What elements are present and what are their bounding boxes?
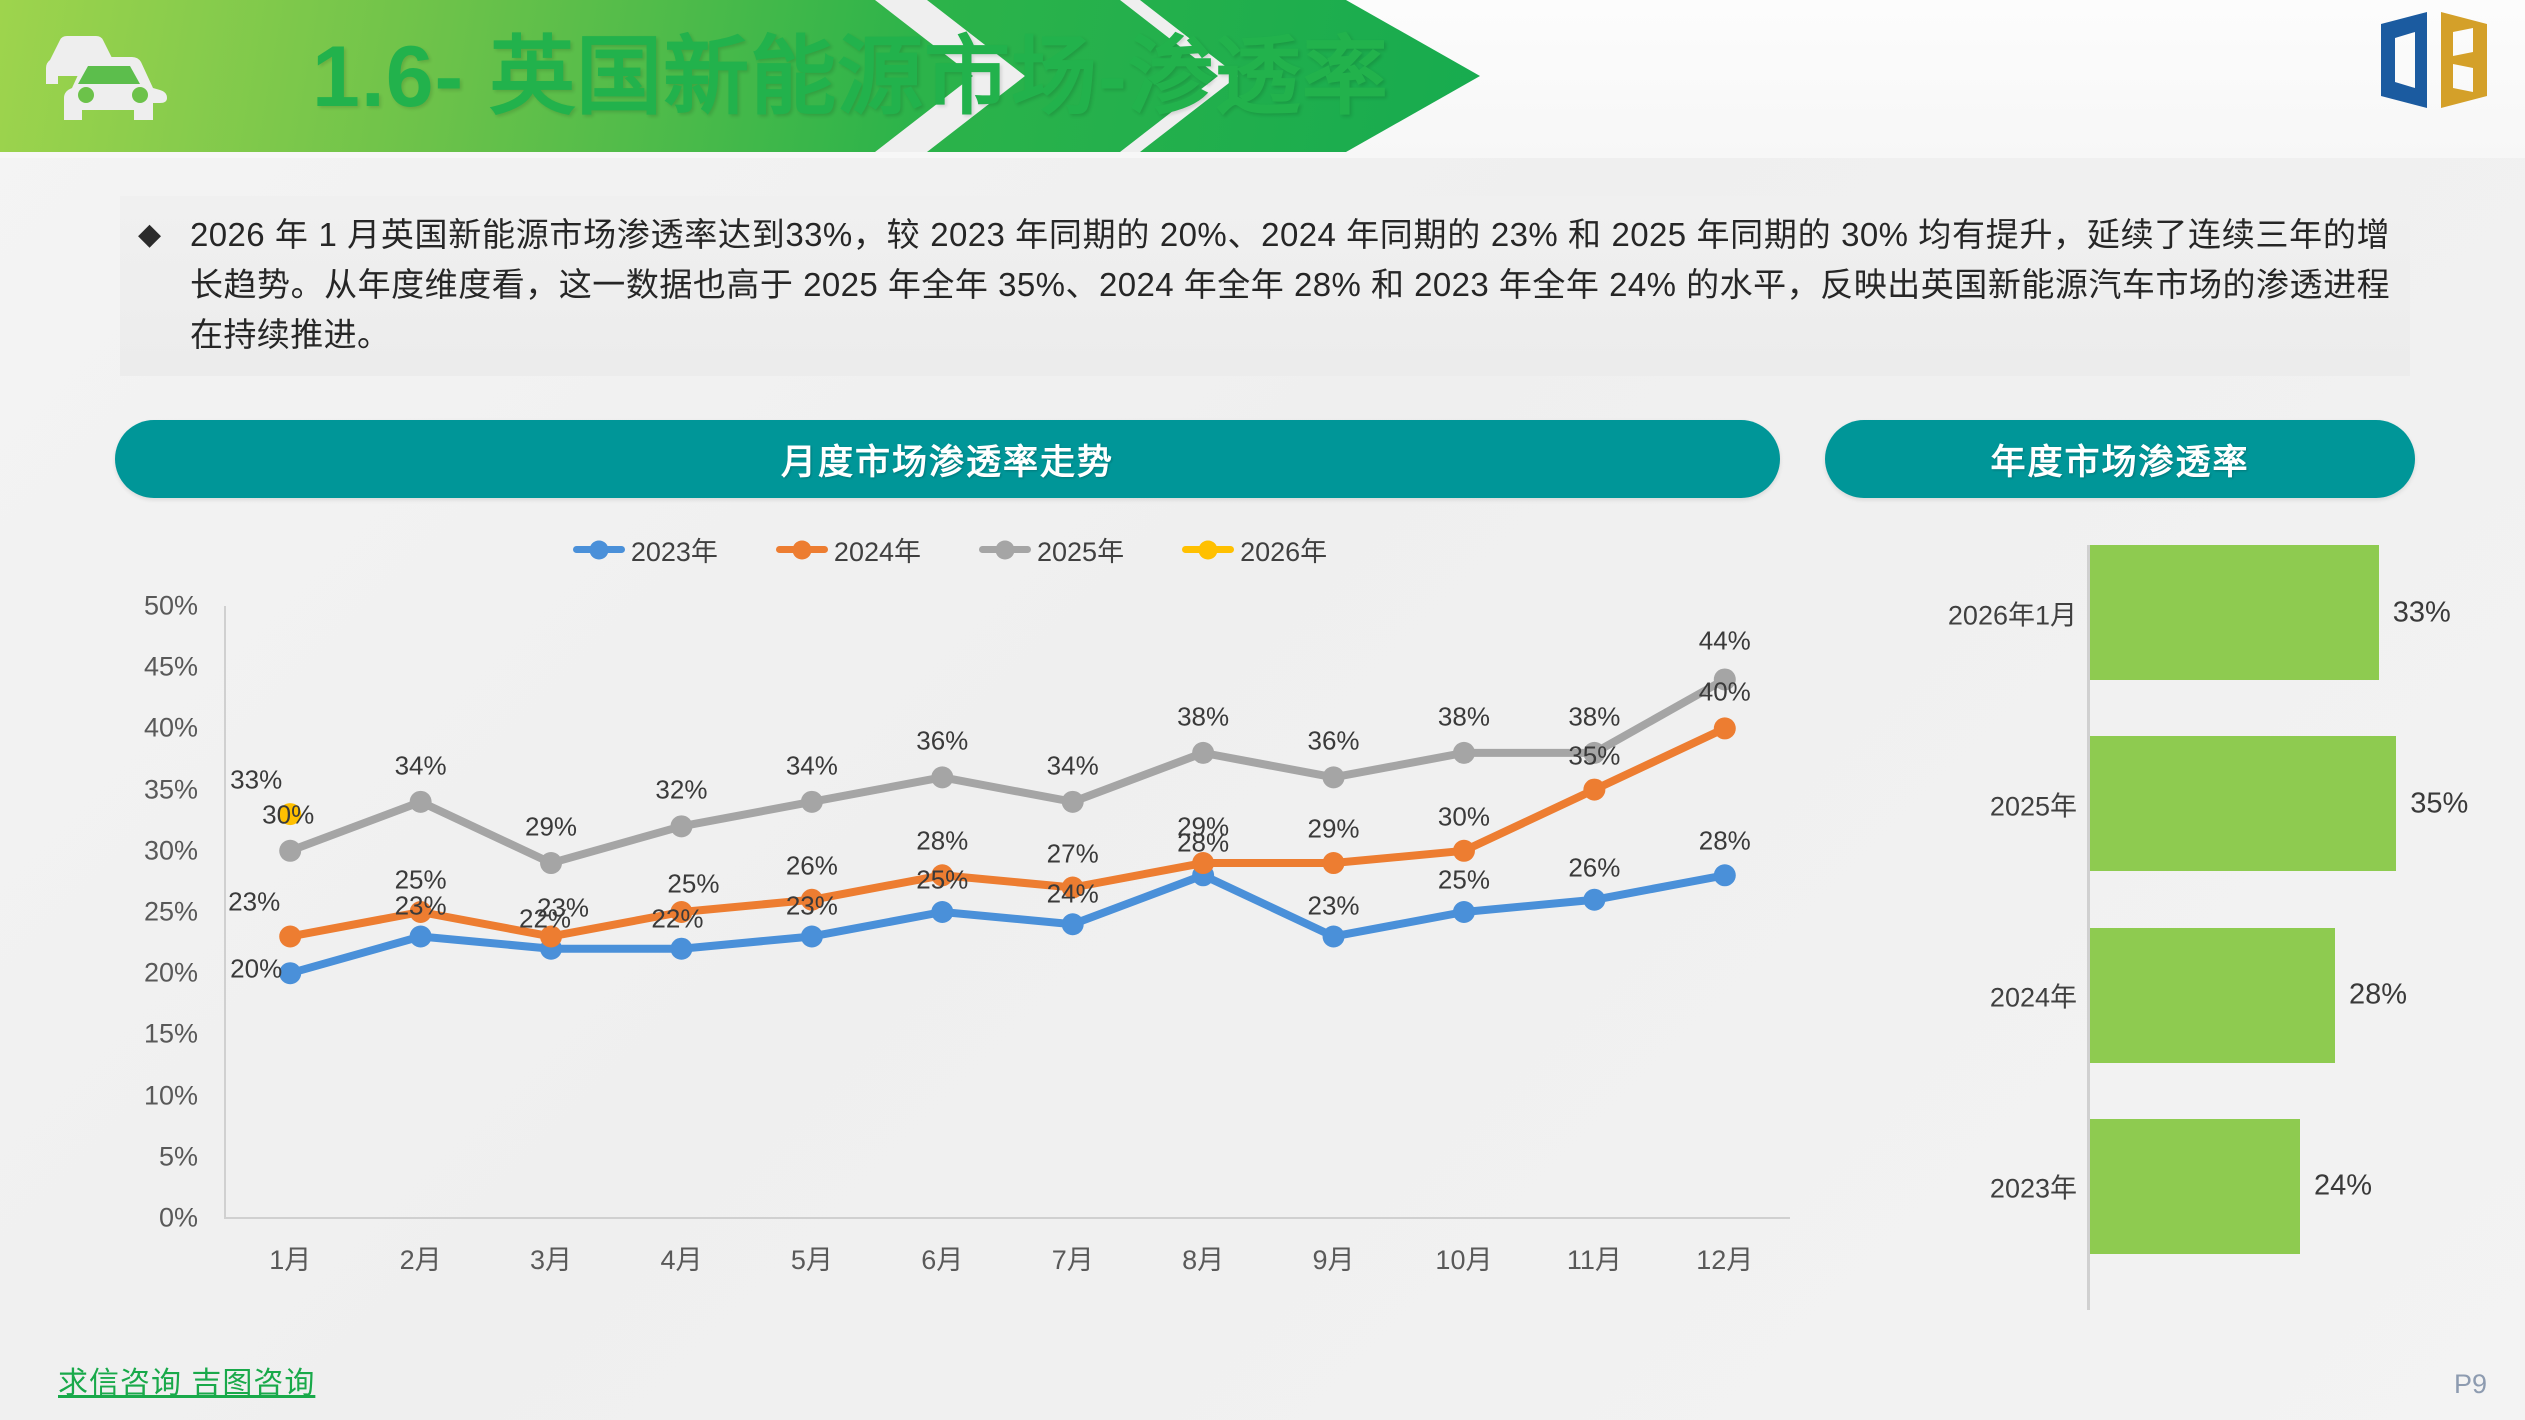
y-axis-tick: 50% (100, 591, 198, 622)
y-axis-tick: 0% (100, 1203, 198, 1234)
data-label: 29% (1177, 812, 1229, 843)
bar-category-label: 2023年 (1855, 1167, 2077, 1206)
legend-swatch (1182, 546, 1234, 553)
y-axis-tick: 25% (100, 897, 198, 928)
bar-category-label: 2025年 (1855, 784, 2077, 823)
data-label: 28% (916, 826, 968, 857)
bar-row: 2026年1月33% (1855, 545, 2475, 680)
data-label: 26% (786, 850, 838, 881)
data-label: 33% (230, 765, 282, 796)
data-point[interactable] (801, 791, 823, 813)
legend-item-2023年[interactable]: 2023年 (573, 530, 718, 569)
bar-row: 2024年28% (1855, 928, 2475, 1063)
bar-value-label: 33% (2393, 596, 2451, 629)
legend-label: 2023年 (631, 530, 718, 569)
data-label: 22% (651, 903, 703, 934)
data-point[interactable] (279, 962, 301, 984)
x-axis-tick: 2月 (400, 1238, 442, 1277)
data-label: 25% (667, 869, 719, 900)
bar-value-label: 28% (2349, 979, 2407, 1012)
bullet-icon: ◆ (138, 220, 161, 250)
data-point[interactable] (540, 852, 562, 874)
summary-text: 2026 年 1 月英国新能源市场渗透率达到33%，较 2023 年同期的 20… (190, 210, 2390, 360)
page-number: P9 (2454, 1369, 2487, 1400)
bar-row: 2025年35% (1855, 736, 2475, 871)
data-label: 40% (1699, 677, 1751, 708)
bar[interactable] (2090, 928, 2335, 1063)
y-axis-tick: 30% (100, 835, 198, 866)
data-point[interactable] (1714, 864, 1736, 886)
data-point[interactable] (1453, 840, 1475, 862)
page-title: 1.6- 英国新能源市场-渗透率 (312, 6, 1389, 131)
data-label: 23% (395, 891, 447, 922)
slide-root: 1.6- 英国新能源市场-渗透率 ◆ 2026 年 1 月英国新能源市场渗透率达… (0, 0, 2525, 1420)
legend-label: 2024年 (834, 530, 921, 569)
section-title-annual: 年度市场渗透率 (1825, 420, 2415, 498)
y-axis-tick: 40% (100, 713, 198, 744)
data-label: 30% (262, 799, 314, 830)
data-label: 35% (1568, 740, 1620, 771)
bar-value-label: 24% (2314, 1170, 2372, 1203)
db-logo (2369, 6, 2501, 114)
bar-row: 2023年24% (1855, 1119, 2475, 1254)
y-axis-tick: 5% (100, 1141, 198, 1172)
y-axis-tick: 45% (100, 652, 198, 683)
data-label: 32% (655, 775, 707, 806)
x-axis-tick: 5月 (791, 1238, 833, 1277)
y-axis-tick: 15% (100, 1019, 198, 1050)
data-point[interactable] (1323, 925, 1345, 947)
legend-swatch (776, 546, 828, 553)
summary-panel: ◆ 2026 年 1 月英国新能源市场渗透率达到33%，较 2023 年同期的 … (120, 196, 2410, 376)
data-label: 44% (1699, 626, 1751, 657)
data-point[interactable] (1323, 766, 1345, 788)
bar-category-label: 2024年 (1855, 976, 2077, 1015)
y-axis-tick: 20% (100, 958, 198, 989)
data-point[interactable] (1714, 717, 1736, 739)
data-label: 23% (786, 891, 838, 922)
data-point[interactable] (1453, 742, 1475, 764)
x-axis-tick: 10月 (1435, 1238, 1492, 1277)
data-label: 36% (916, 726, 968, 757)
data-label: 20% (230, 954, 282, 985)
data-label: 23% (1308, 891, 1360, 922)
data-label: 23% (537, 893, 589, 924)
line-chart-plot: 0%5%10%15%20%25%30%35%40%45%50%1月2月3月4月5… (100, 582, 1800, 1310)
x-axis-tick: 11月 (1567, 1238, 1622, 1277)
data-label: 23% (228, 887, 280, 918)
series-line-2025年 (290, 679, 1725, 863)
data-point[interactable] (1453, 901, 1475, 923)
data-point[interactable] (1583, 889, 1605, 911)
x-axis-tick: 12月 (1696, 1238, 1753, 1277)
bar[interactable] (2090, 1119, 2300, 1254)
x-axis-tick: 1月 (269, 1238, 311, 1277)
data-label: 26% (1568, 852, 1620, 883)
data-point[interactable] (931, 901, 953, 923)
data-label: 29% (525, 812, 577, 843)
data-label: 28% (1699, 826, 1751, 857)
two-cars-icon (38, 26, 198, 130)
data-label: 24% (1047, 879, 1099, 910)
data-point[interactable] (1192, 742, 1214, 764)
data-point[interactable] (279, 840, 301, 862)
data-point[interactable] (1583, 779, 1605, 801)
data-label: 29% (1308, 814, 1360, 845)
bar-value-label: 35% (2410, 787, 2468, 820)
data-label: 30% (1438, 801, 1490, 832)
section-title-monthly: 月度市场渗透率走势 (115, 420, 1780, 498)
data-label: 25% (395, 865, 447, 896)
x-axis-tick: 9月 (1313, 1238, 1355, 1277)
data-point[interactable] (1323, 852, 1345, 874)
footer-links[interactable]: 求信咨询 吉图咨询 (58, 1358, 315, 1402)
data-label: 25% (1438, 865, 1490, 896)
data-point[interactable] (670, 815, 692, 837)
data-label: 38% (1568, 701, 1620, 732)
data-point[interactable] (1062, 913, 1084, 935)
data-point[interactable] (801, 925, 823, 947)
monthly-penetration-line-chart: 2023年2024年2025年2026年 0%5%10%15%20%25%30%… (100, 520, 1800, 1310)
data-label: 27% (1047, 838, 1099, 869)
legend-label: 2025年 (1037, 530, 1124, 569)
bar[interactable] (2090, 545, 2379, 680)
legend-label: 2026年 (1240, 530, 1327, 569)
legend-item-2025年[interactable]: 2025年 (979, 530, 1124, 569)
data-point[interactable] (1062, 791, 1084, 813)
legend-item-2026年[interactable]: 2026年 (1182, 530, 1327, 569)
chart-legend: 2023年2024年2025年2026年 (100, 530, 1800, 569)
data-label: 38% (1438, 701, 1490, 732)
data-label: 38% (1177, 701, 1229, 732)
data-point[interactable] (279, 925, 301, 947)
x-axis-tick: 8月 (1182, 1238, 1224, 1277)
data-point[interactable] (670, 938, 692, 960)
line-chart-svg (100, 582, 1800, 1310)
legend-item-2024年[interactable]: 2024年 (776, 530, 921, 569)
data-label: 25% (916, 865, 968, 896)
legend-swatch (979, 546, 1031, 553)
data-point[interactable] (410, 925, 432, 947)
data-label: 34% (395, 750, 447, 781)
x-axis-tick: 4月 (660, 1238, 702, 1277)
bar-category-label: 2026年1月 (1855, 593, 2077, 632)
y-axis-tick: 35% (100, 774, 198, 805)
data-point[interactable] (931, 766, 953, 788)
y-axis-tick: 10% (100, 1080, 198, 1111)
annual-penetration-bar-chart: 2026年1月33%2025年35%2024年28%2023年24% (1855, 545, 2475, 1310)
bar[interactable] (2090, 736, 2396, 871)
x-axis-tick: 6月 (921, 1238, 963, 1277)
slide-header: 1.6- 英国新能源市场-渗透率 (0, 0, 2525, 158)
data-label: 34% (1047, 750, 1099, 781)
x-axis-tick: 3月 (530, 1238, 572, 1277)
data-label: 34% (786, 750, 838, 781)
x-axis-tick: 7月 (1052, 1238, 1094, 1277)
data-label: 36% (1308, 726, 1360, 757)
data-point[interactable] (410, 791, 432, 813)
legend-swatch (573, 546, 625, 553)
